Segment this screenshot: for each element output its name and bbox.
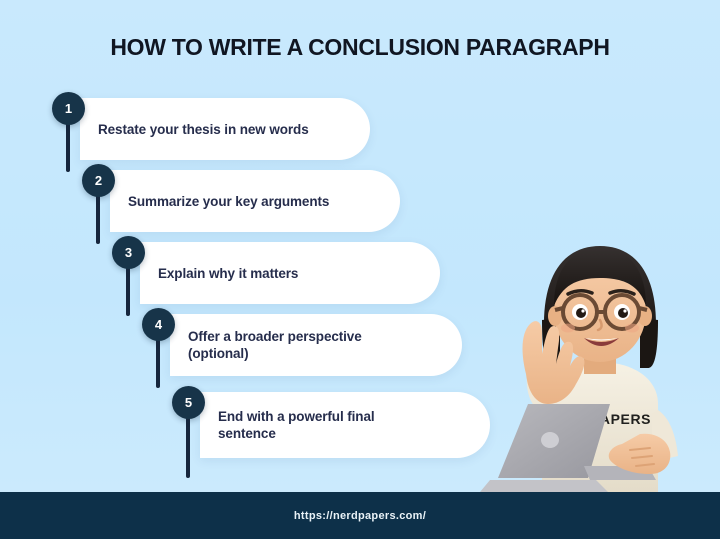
step-badge[interactable]: 4 bbox=[142, 308, 175, 341]
footer-url[interactable]: https://nerdpapers.com/ bbox=[294, 510, 426, 522]
step-badge[interactable]: 3 bbox=[112, 236, 145, 269]
laptop-logo bbox=[541, 432, 559, 448]
character-illustration: NERDPAPERS bbox=[480, 228, 720, 492]
step-text: Explain why it matters bbox=[158, 265, 298, 282]
step-card[interactable]: Summarize your key arguments bbox=[110, 170, 400, 232]
footer-bar: https://nerdpapers.com/ bbox=[0, 492, 720, 539]
step-text: Offer a broader perspective (optional) bbox=[188, 328, 362, 362]
step-badge[interactable]: 5 bbox=[172, 386, 205, 419]
step-badge[interactable]: 1 bbox=[52, 92, 85, 125]
step-text: End with a powerful final sentence bbox=[218, 408, 375, 442]
infographic-canvas: HOW TO WRITE A CONCLUSION PARAGRAPH Rest… bbox=[0, 0, 720, 539]
step-badge[interactable]: 2 bbox=[82, 164, 115, 197]
step-card[interactable]: Explain why it matters bbox=[140, 242, 440, 304]
step-card[interactable]: End with a powerful final sentence bbox=[200, 392, 490, 458]
step-text: Summarize your key arguments bbox=[128, 193, 329, 210]
step-card[interactable]: Restate your thesis in new words bbox=[80, 98, 370, 160]
step-text: Restate your thesis in new words bbox=[98, 121, 309, 138]
character-svg: NERDPAPERS bbox=[480, 228, 720, 492]
step-card[interactable]: Offer a broader perspective (optional) bbox=[170, 314, 462, 376]
